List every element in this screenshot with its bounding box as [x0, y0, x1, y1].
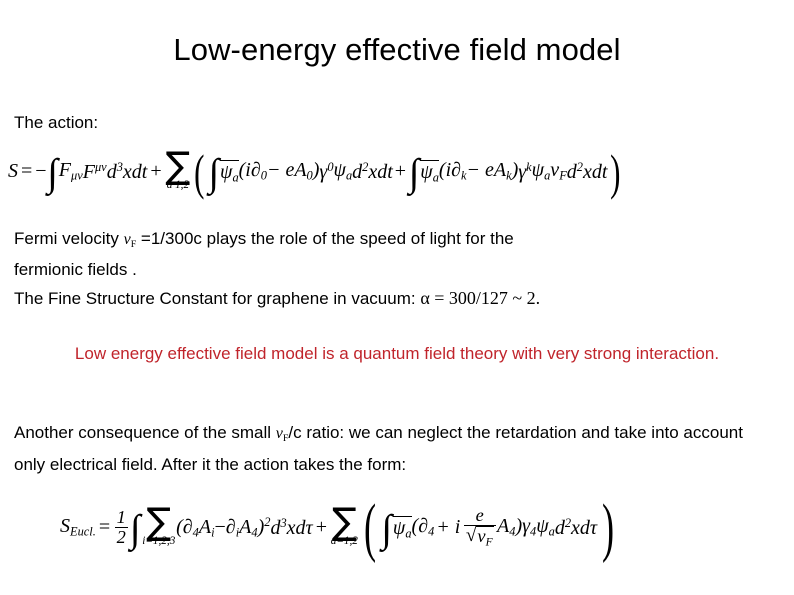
paren-open-icon-2: (	[364, 515, 376, 541]
integral-icon-2: ∫	[209, 164, 220, 184]
e-over-sqrt-vf-fraction: e √vF	[464, 506, 496, 550]
eq1-d2xdt-2: d2xdt	[567, 160, 608, 184]
one-half-fraction: 1 2	[115, 508, 128, 548]
eq2-plus-1: +	[316, 516, 327, 539]
eq2-sum-limit-a: a=1,2	[331, 536, 358, 547]
eq2-psibar: ψa	[393, 516, 412, 540]
eq1-equals: =	[21, 160, 32, 183]
eq1-psi-2: ψa	[532, 159, 551, 184]
sigma-glyph-i: ∑	[146, 508, 171, 537]
eq1-F-lower: Fμν	[59, 159, 83, 184]
sqrt-icon: √vF	[466, 526, 494, 549]
integral-icon-4: ∫	[130, 520, 141, 540]
fraction-denominator: 2	[115, 527, 128, 547]
integral-icon-5: ∫	[381, 520, 392, 540]
sigma-glyph-a: ∑	[332, 508, 357, 537]
fermi-text-after: =1/300c plays the role of the speed of l…	[136, 229, 514, 248]
paragraph-fermi-velocity: Fermi velocity vF =1/300c plays the role…	[14, 226, 780, 282]
eq2-sum-limit-i: i=1,2,3	[142, 536, 175, 547]
eq2-lhs: SEucl.	[60, 515, 96, 540]
eq1-plus-2: +	[395, 160, 406, 183]
eq1-gamma-k: γk	[518, 160, 531, 184]
integral-icon: ∫	[47, 164, 58, 184]
emphasis-statement: Low energy effective field model is a qu…	[14, 341, 780, 367]
integral-icon-3: ∫	[409, 164, 420, 184]
eq1-d2xdt-1: d2xdt	[352, 160, 393, 184]
eq1-d3xdt: d3xdt	[107, 160, 148, 184]
page-title: Low-energy effective field model	[0, 30, 794, 70]
paragraph-fine-structure-constant: The Fine Structure Constant for graphene…	[14, 286, 780, 311]
eq1-term-0: (i∂0− eA0)	[239, 159, 320, 184]
eq1-lhs: S	[8, 160, 18, 183]
last-text-before: Another consequence of the small	[14, 423, 276, 442]
action-equation: S = − ∫ Fμν Fμν d3xdt + ∑ a 1,2 ( ∫ ψa (…	[8, 152, 624, 192]
eq1-F-upper: Fμν	[83, 160, 107, 184]
eq1-plus-1: +	[150, 160, 161, 183]
eq1-minus: −	[35, 160, 46, 183]
fermi-text-tail: fermionic fields .	[14, 257, 780, 282]
fraction-numerator-e: e	[474, 506, 486, 525]
paren-open-icon: (	[194, 161, 204, 184]
fermi-text-before: Fermi velocity	[14, 229, 124, 248]
lead-label: The action:	[14, 110, 98, 135]
eq2-d2xdtau: d2xdτ	[555, 516, 597, 540]
slide-canvas: Low-energy effective field model The act…	[0, 0, 794, 595]
paren-close-icon: )	[611, 161, 621, 184]
eq2-psi: ψa	[536, 515, 555, 540]
eq1-psi-1: ψa	[334, 159, 353, 184]
eq2-equals: =	[99, 516, 110, 539]
eq1-psibar-1: ψa	[220, 160, 239, 184]
euclidean-action-equation: SEucl. = 1 2 ∫ ∑ i=1,2,3 (∂4Ai−∂iA4)2 d3…	[60, 506, 619, 550]
eq2-d3xdtau: d3xdτ	[270, 516, 312, 540]
sigma-glyph: ∑	[165, 152, 190, 181]
alpha-formula: α = 300/127 ~ 2.	[420, 288, 540, 308]
fraction-numerator: 1	[115, 508, 128, 527]
eq1-psibar-2: ψa	[420, 160, 439, 184]
eq2-A4: A4)	[497, 515, 522, 540]
eq1-gamma-0: γ0	[319, 160, 333, 184]
fraction-denominator-sqrt: √vF	[464, 525, 496, 549]
fermi-velocity-symbol: vF	[124, 231, 137, 248]
alpha-text: The Fine Structure Constant for graphene…	[14, 289, 420, 308]
summation-icon-a: ∑ a=1,2	[331, 508, 358, 548]
eq1-term-k: (i∂k− eAk)	[439, 159, 518, 184]
eq1-sum-limit: a 1,2	[167, 180, 189, 191]
fermi-velocity-symbol-2: vF	[276, 425, 289, 442]
paragraph-retardation: Another consequence of the small vF/c ra…	[14, 420, 754, 478]
eq2-partial4: (∂4	[412, 515, 435, 540]
eq2-curl-term: (∂4Ai−∂iA4)2	[176, 515, 270, 541]
eq1-vF: vF	[550, 159, 566, 184]
eq2-plus-i: + i	[436, 516, 460, 539]
summation-icon: ∑ a 1,2	[165, 152, 190, 192]
eq2-gamma4: γ4	[522, 515, 536, 540]
summation-icon-i: ∑ i=1,2,3	[142, 508, 175, 548]
paren-close-icon-2: )	[602, 515, 614, 541]
